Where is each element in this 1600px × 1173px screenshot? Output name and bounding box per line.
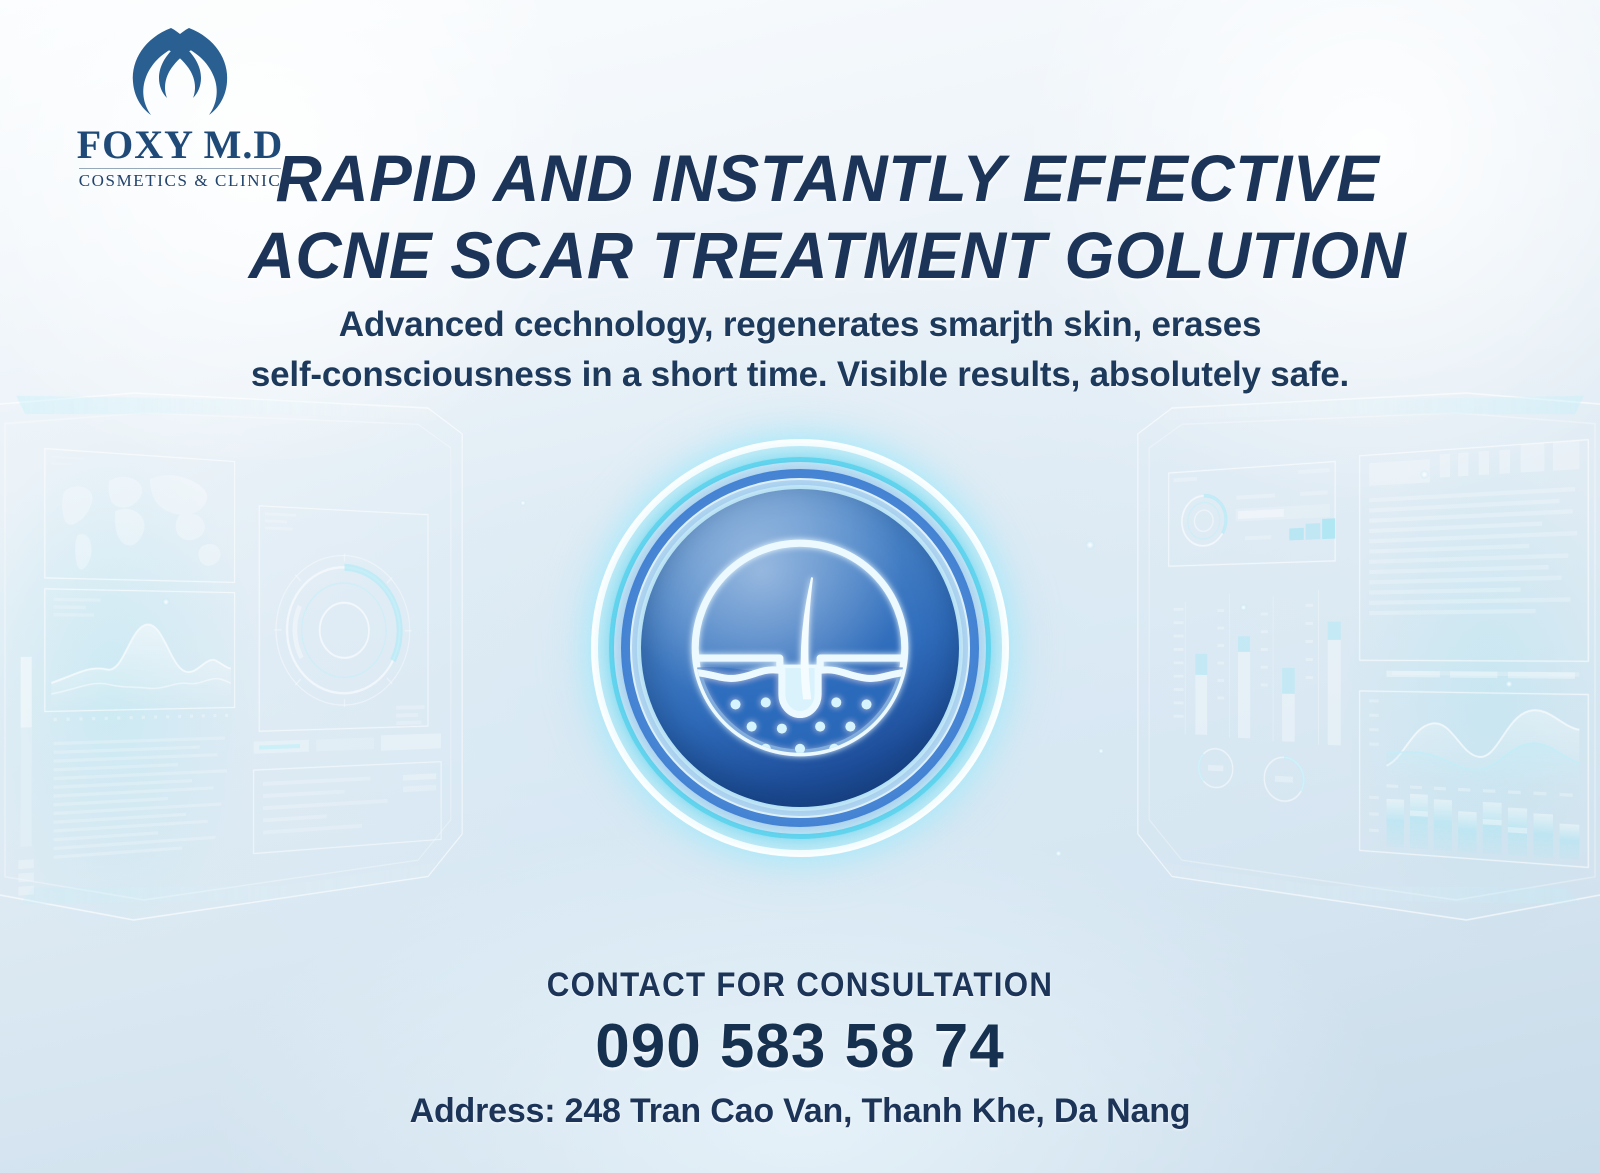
hero-badge — [565, 413, 1035, 883]
light-particle — [1240, 604, 1247, 611]
contact-address: Address: 248 Tran Cao Van, Thanh Khe, Da… — [0, 1092, 1600, 1131]
light-particle — [1055, 850, 1062, 857]
skin-follicle-cross-section-icon — [669, 517, 931, 779]
bar-and-line-chart — [1360, 691, 1589, 867]
foxy-leaf-emblem-icon — [121, 20, 239, 126]
headline-line-1: RAPID AND INSTANTLY EFFECTIVE — [78, 140, 1577, 217]
contact-phone-number[interactable]: 090 583 58 74 — [0, 1011, 1600, 1082]
light-particle — [1098, 748, 1104, 754]
ambient-cyan-right — [1340, 430, 1600, 950]
status-strip — [254, 733, 442, 853]
radial-gauge-dial — [259, 506, 428, 731]
gauge-meter-panel — [1169, 462, 1335, 567]
vertical-slider-bars — [1174, 589, 1341, 745]
headline: RAPID AND INSTANTLY EFFECTIVE ACNE SCAR … — [0, 140, 1600, 293]
contact-block: CONTACT FOR CONSULTATION 090 583 58 74 A… — [0, 966, 1600, 1131]
ambient-cyan-left — [0, 430, 260, 950]
text-data-block — [54, 736, 227, 858]
subtitle-line-2: self-consciousness in a short time. Visi… — [0, 350, 1600, 400]
light-particle — [1085, 540, 1095, 550]
code-text-block — [1360, 440, 1589, 679]
subtitle: Advanced cechnology, regenerates smarjth… — [0, 300, 1600, 399]
progress-bars — [18, 657, 33, 896]
circular-dials — [1199, 748, 1304, 802]
world-map-panel — [45, 449, 235, 583]
contact-label: CONTACT FOR CONSULTATION — [64, 966, 1536, 1005]
right-holographic-dashboard — [1124, 333, 1600, 962]
light-particle — [1420, 470, 1429, 479]
subtitle-line-1: Advanced cechnology, regenerates smarjth… — [0, 300, 1600, 350]
light-particle — [1505, 680, 1513, 688]
poster-canvas: FOXY M.D COSMETICS & CLINIC RAPID AND IN… — [0, 0, 1600, 1173]
light-particle — [520, 500, 526, 506]
light-particle — [162, 598, 170, 606]
area-wave-chart — [45, 589, 235, 722]
headline-line-2: ACNE SCAR TREATMENT GOLUTION — [78, 217, 1577, 294]
left-holographic-dashboard — [0, 333, 476, 962]
